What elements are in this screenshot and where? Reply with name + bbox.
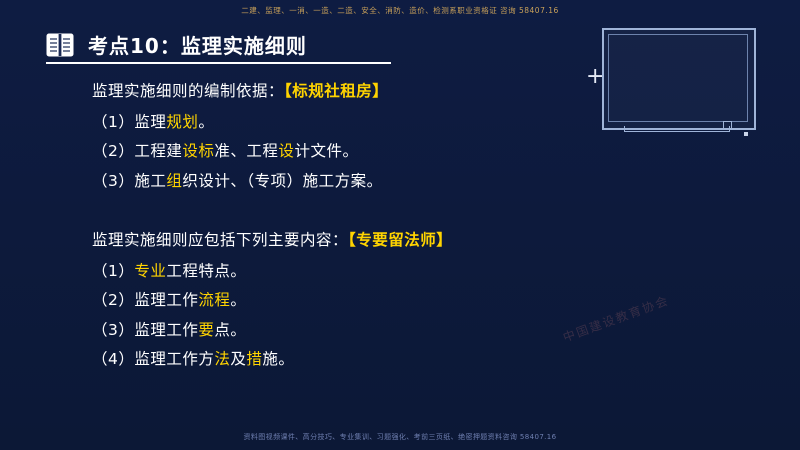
section1-item-3: （3）施工组织设计、（专项）施工方案。	[92, 174, 652, 190]
section2-heading-text: 监理实施细则应包括下列主要内容：	[92, 231, 348, 249]
slide-title-row: 考点10：监理实施细则	[46, 30, 307, 59]
title-underline	[46, 62, 391, 64]
section1-item-1-text: （1）监理规划。	[92, 113, 214, 131]
bottom-marquee-text: 资料图视频课件、高分技巧、专业集训、习题强化、考前三页纸、绝密押题资料咨询 58…	[0, 432, 800, 442]
section1-item-3-text: （3）施工组织设计、（专项）施工方案。	[92, 172, 383, 190]
section2-item-4-text: （4）监理工作方法及措施。	[92, 350, 294, 368]
section2-item-4: （4）监理工作方法及措施。	[92, 352, 652, 368]
page-title-prefix: 考点10：	[88, 34, 181, 58]
screen-frame-graphic: +	[586, 22, 762, 138]
section2-item-2-text: （2）监理工作流程。	[92, 291, 246, 309]
slide-canvas: 二建、监理、一消、一造、二造、安全、消防、造价、检测系职业资格证 咨询 5840…	[0, 0, 800, 450]
frame-inner	[608, 34, 748, 122]
page-title: 考点10：监理实施细则	[88, 30, 307, 59]
corner-dot	[744, 132, 748, 136]
top-marquee-text: 二建、监理、一消、一造、二造、安全、消防、造价、检测系职业资格证 咨询 5840…	[0, 5, 800, 16]
book-icon	[46, 32, 74, 58]
section2-item-3-text: （3）监理工作要点。	[92, 321, 246, 339]
section2-item-1-text: （1）专业工程特点。	[92, 262, 246, 280]
section2-mnemonic: 【专要留法师】	[348, 231, 452, 249]
section1-heading: 监理实施细则的编制依据：【标规社租房】	[92, 84, 652, 100]
frame-base	[624, 126, 730, 132]
section1-item-2: （2）工程建设标准、工程设计文件。	[92, 144, 652, 160]
section2-item-1: （1）专业工程特点。	[92, 264, 652, 280]
section-spacer	[92, 203, 652, 233]
page-title-main: 监理实施细则	[181, 34, 307, 58]
section1-item-2-text: （2）工程建设标准、工程设计文件。	[92, 142, 358, 160]
section2-item-2: （2）监理工作流程。	[92, 293, 652, 309]
section1-item-1: （1）监理规划。	[92, 115, 652, 131]
section2-heading: 监理实施细则应包括下列主要内容：【专要留法师】	[92, 233, 652, 249]
section1-heading-text: 监理实施细则的编制依据：	[92, 82, 284, 100]
section1-mnemonic: 【标规社租房】	[284, 82, 388, 100]
resize-handle[interactable]	[723, 121, 732, 130]
